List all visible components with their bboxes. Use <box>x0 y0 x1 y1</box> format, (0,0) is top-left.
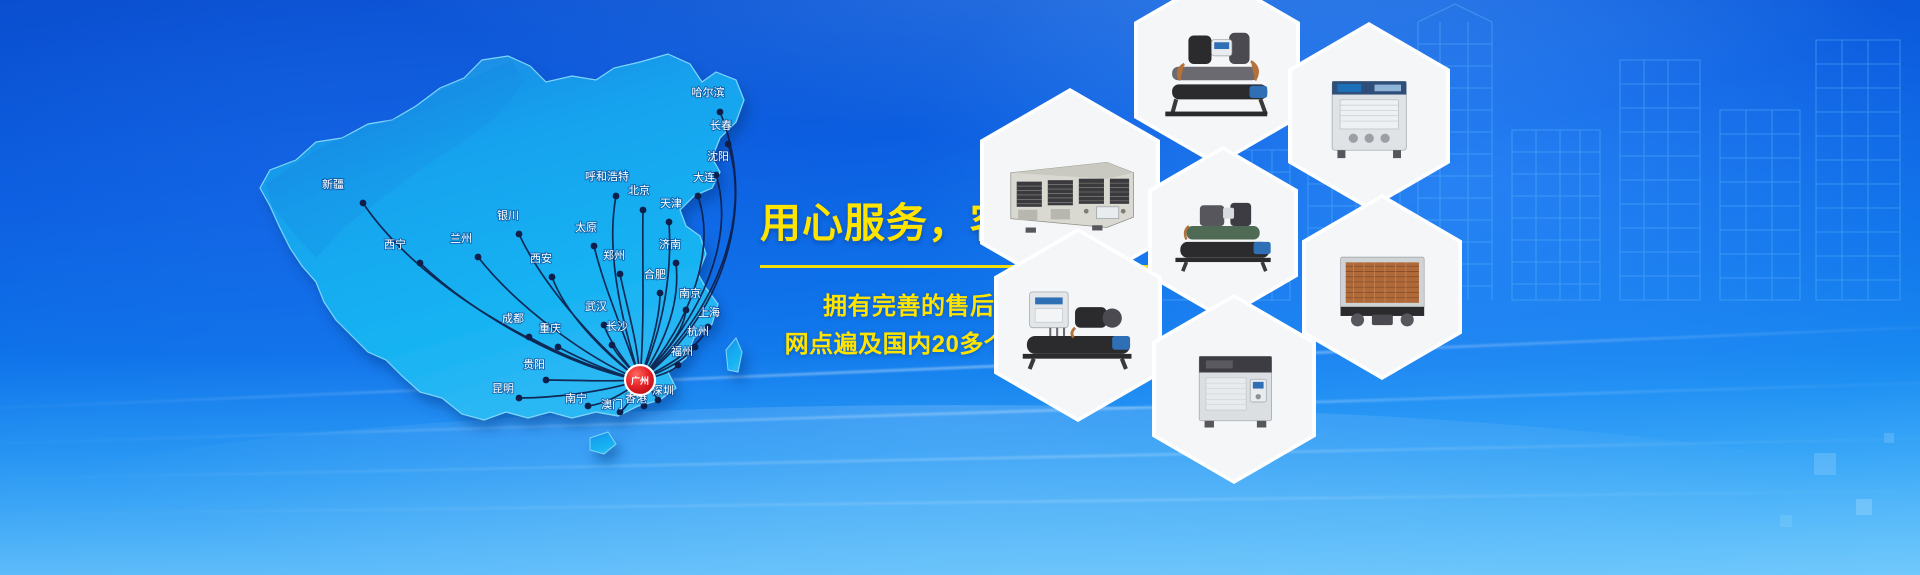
map-city-dot[interactable] <box>516 395 523 402</box>
product-hex-condensing-unit[interactable] <box>1148 146 1298 320</box>
map-city-dot[interactable] <box>526 334 533 341</box>
map-city-dot[interactable] <box>695 193 702 200</box>
map-city-dot[interactable] <box>543 377 550 384</box>
map-city-dot[interactable] <box>591 243 598 250</box>
map-city-dot[interactable] <box>725 141 732 148</box>
map-hub-label: 广州 <box>631 375 649 386</box>
map-city-label: 杭州 <box>687 324 709 338</box>
map-city-label: 贵阳 <box>523 358 545 371</box>
map-city-dot[interactable] <box>555 344 562 351</box>
map-city-label: 天津 <box>660 197 682 210</box>
map-city-dot[interactable] <box>666 219 673 226</box>
map-city-label: 长沙 <box>606 320 628 333</box>
map-city-dot[interactable] <box>360 200 367 207</box>
map-city-label: 新疆 <box>322 177 344 191</box>
map-city-dot[interactable] <box>675 362 682 369</box>
map-city-dot[interactable] <box>613 193 620 200</box>
product-hex-low-temp-chiller-cabinet[interactable] <box>1152 294 1316 484</box>
product-hexagon-cluster <box>980 0 1500 458</box>
map-city-label: 昆明 <box>492 382 514 395</box>
map-city-label: 南京 <box>679 286 701 300</box>
map-city-label: 银川 <box>497 208 519 222</box>
map-city-label: 郑州 <box>603 248 625 262</box>
map-city-label: 澳门 <box>601 397 623 411</box>
map-city-dot[interactable] <box>657 290 664 297</box>
map-city-label: 南宁 <box>565 391 587 405</box>
map-city-dot[interactable] <box>549 274 556 281</box>
map-city-label: 西安 <box>530 251 552 265</box>
map-city-label: 福州 <box>671 344 693 358</box>
map-city-label: 长春 <box>710 119 732 132</box>
map-city-dot[interactable] <box>640 207 647 214</box>
map-city-dot[interactable] <box>516 231 523 238</box>
product-hex-industrial-air-cooled-chiller[interactable] <box>1288 22 1450 210</box>
map-city-dot[interactable] <box>655 397 662 404</box>
map-city-dot[interactable] <box>617 271 624 278</box>
map-city-label: 济南 <box>659 237 681 251</box>
map-city-dot[interactable] <box>683 307 690 314</box>
map-city-label: 成都 <box>502 312 524 325</box>
map-city-label: 深圳 <box>652 384 674 397</box>
map-city-label: 呼和浩特 <box>585 169 629 183</box>
map-city-label: 西宁 <box>384 237 406 251</box>
map-city-dot[interactable] <box>717 109 724 116</box>
map-city-dot[interactable] <box>673 260 680 267</box>
product-hex-air-cooled-condenser-unit[interactable] <box>1302 194 1462 380</box>
map-city-label: 上海 <box>698 305 720 319</box>
map-city-label: 武汉 <box>585 300 607 313</box>
map-city-label: 合肥 <box>644 267 666 281</box>
map-city-dot[interactable] <box>609 342 616 349</box>
map-city-dot[interactable] <box>475 254 482 261</box>
map-city-dot[interactable] <box>417 260 424 267</box>
map-city-label: 重庆 <box>539 321 561 335</box>
map-city-label: 兰州 <box>450 232 472 245</box>
map-city-label: 沈阳 <box>707 149 729 163</box>
map-city-label: 哈尔滨 <box>692 85 725 99</box>
map-hub-marker[interactable]: 广州 <box>625 365 655 395</box>
map-city-label: 北京 <box>628 183 650 197</box>
service-network-banner: 哈尔滨长春沈阳大连呼和浩特北京天津新疆银川太原济南兰州西宁西安郑州合肥南京上海杭… <box>0 0 1920 575</box>
china-service-network-map: 哈尔滨长春沈阳大连呼和浩特北京天津新疆银川太原济南兰州西宁西安郑州合肥南京上海杭… <box>120 20 760 470</box>
map-city-label: 太原 <box>575 221 597 234</box>
map-city-label: 大连 <box>693 170 715 184</box>
